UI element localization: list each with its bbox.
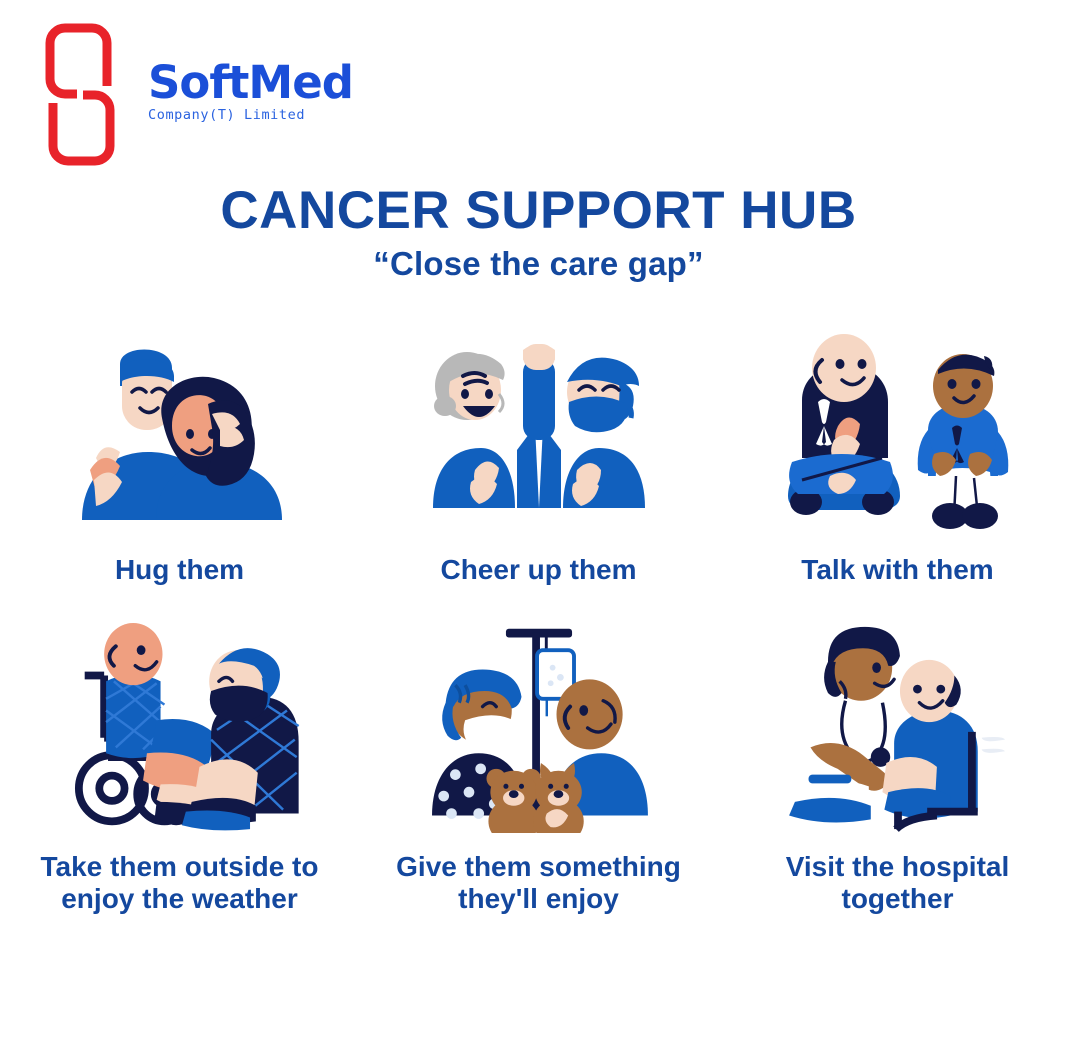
adult-and-child-sitting-talking-icon — [778, 330, 1018, 542]
doctor-with-patient-in-wheelchair-icon — [778, 621, 1018, 839]
card-outside: Take them outside to enjoy the weather — [0, 621, 359, 914]
poster-canvas: SoftMed Company(T) Limited CANCER SUPPOR… — [0, 0, 1077, 1057]
grid-row-1: Hug them — [0, 330, 1077, 585]
elderly-woman-and-nurse-high-five-icon — [419, 330, 659, 542]
card-caption: Cheer up them — [379, 554, 699, 585]
card-caption: Hug them — [20, 554, 340, 585]
card-talk: Talk with them — [718, 330, 1077, 585]
card-caption: Talk with them — [738, 554, 1058, 585]
brand-logo: SoftMed Company(T) Limited — [44, 22, 334, 167]
card-gift: Give them something they'll enjoy — [359, 621, 718, 914]
card-hug: Hug them — [0, 330, 359, 585]
card-visit: Visit the hospital together — [718, 621, 1077, 914]
person-in-wheelchair-with-companion-icon — [60, 621, 300, 839]
brand-name: SoftMed — [148, 60, 338, 105]
brand-subtitle: Company(T) Limited — [148, 107, 338, 123]
support-actions-grid: Hug them — [0, 330, 1077, 914]
brand-wordmark: SoftMed Company(T) Limited — [148, 60, 338, 123]
grid-row-2: Take them outside to enjoy the weather — [0, 621, 1077, 914]
two-people-hugging-icon — [60, 330, 300, 542]
page-subtitle: “Close the care gap” — [0, 245, 1077, 283]
softmed-s-monogram-icon — [44, 22, 116, 167]
patients-with-iv-drip-and-teddy-bears-icon — [419, 621, 659, 839]
card-cheer: Cheer up them — [359, 330, 718, 585]
card-caption: Take them outside to enjoy the weather — [20, 851, 340, 914]
card-caption: Give them something they'll enjoy — [379, 851, 699, 914]
page-title: CANCER SUPPORT HUB — [0, 180, 1077, 241]
card-caption: Visit the hospital together — [738, 851, 1058, 914]
